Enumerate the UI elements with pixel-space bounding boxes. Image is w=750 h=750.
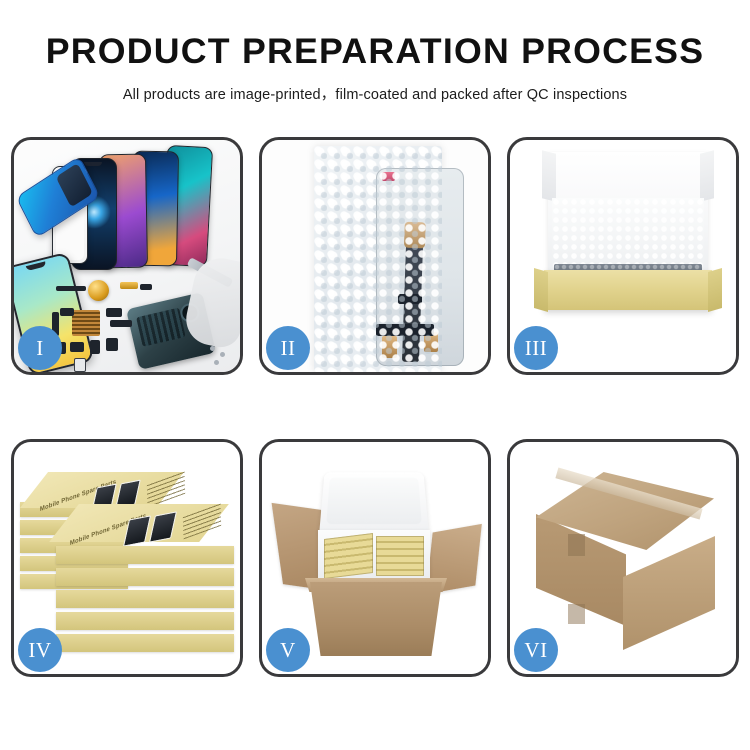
step-panel-6[interactable]: VI [507,439,739,677]
connector-grid-part [72,310,100,336]
camera-module-part [60,308,74,316]
process-steps-grid: I II [11,137,739,677]
step-number-badge-4: IV [18,628,62,672]
step-number-badge-2: II [266,326,310,370]
step-panel-3[interactable]: III [507,137,739,375]
stacked-box-front-2 [56,568,234,586]
step-panel-5[interactable]: V [259,439,491,677]
screw-part-1 [210,346,215,351]
step-number-badge-1: I [18,326,62,370]
carton-front-panel [310,582,442,656]
earpiece-part [56,286,86,291]
white-foam-padding [552,198,704,272]
step-panel-1[interactable]: I [11,137,243,375]
step-number-badge-5: V [266,628,310,672]
page-subtitle: All products are image-printed，film-coat… [0,83,750,104]
stacked-box-front-4 [56,612,234,630]
gold-flex-part [120,282,138,289]
speaker-box-part [70,342,84,352]
carton-corner-tab-lower [568,604,585,624]
small-board-part [106,308,122,317]
step-panel-4[interactable]: Mobile Phone Spare Parts Mobile Phone Sp… [11,439,243,677]
button-flex-part [140,284,152,290]
sim-tray-part [74,358,86,372]
stacked-box-front-3 [56,590,234,608]
stacked-box-front-1 [56,546,234,564]
foam-box-open-lid [319,472,428,532]
page-title: PRODUCT PREPARATION PROCESS [0,34,750,69]
yellow-box-group-left [324,533,373,579]
battery-connector-part [90,340,100,354]
antenna-flex-part [110,320,132,327]
page-header: PRODUCT PREPARATION PROCESS All products… [0,0,750,104]
step-number-badge-6: VI [514,628,558,672]
bubble-texture-overlay [314,146,442,372]
step-number-badge-3: III [514,326,558,370]
packed-yellow-boxes-group [324,536,424,576]
screw-part-3 [214,360,219,365]
charging-port-part [106,338,118,351]
stacked-box-front-5 [56,634,234,652]
process-row-top: I II [11,137,739,375]
speaker-module-part [88,280,109,301]
step-panel-2[interactable]: II [259,137,491,375]
process-row-bottom: Mobile Phone Spare Parts Mobile Phone Sp… [11,439,739,677]
yellow-box-group-right [376,536,425,576]
carton-corner-tab-upper [568,534,585,556]
screw-part-2 [220,352,225,357]
bubble-wrap-bag [314,146,442,372]
yellow-box-tray [544,270,712,310]
